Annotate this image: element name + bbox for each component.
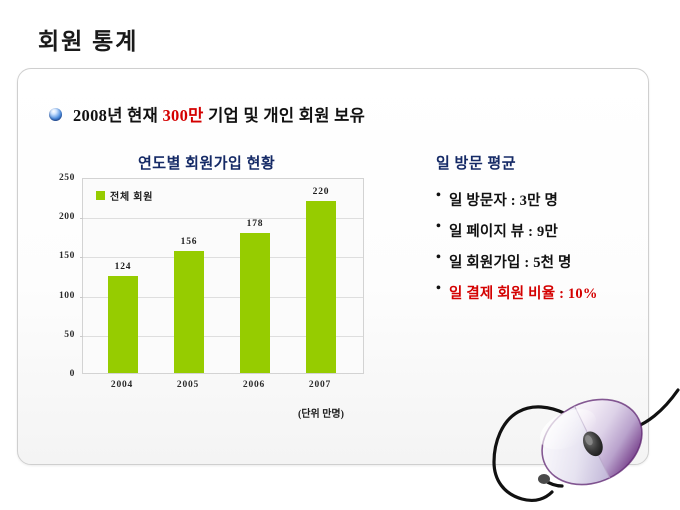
blue-sphere-icon [49,108,62,121]
bar-column: 220 [293,179,349,373]
headline-text-before: 2008년 현재 [73,106,163,125]
bar-value-label: 124 [95,262,151,272]
right-panel-list: 일 방문자 : 3만 명 일 페이지 뷰 : 9만 일 회원가입 : 5천 명 … [436,189,649,303]
y-tick-label: 150 [59,251,75,261]
bar-value-label: 220 [293,187,349,197]
axis-tick [80,297,83,298]
bar-value-label: 156 [161,237,217,247]
page-title: 회원 통계 [38,22,138,56]
x-tick-label: 2007 [292,380,348,390]
list-item: 일 결제 회원 비율 : 10% [436,282,649,303]
chart-block: 연도별 회원가입 현황 250 200 150 100 50 0 [28,152,413,452]
axis-tick [80,257,83,258]
list-item: 일 회원가입 : 5천 명 [436,251,649,272]
y-tick-label: 0 [70,369,75,379]
headline-text-after: 기업 및 개인 회원 보유 [204,106,365,125]
x-tick-label: 2004 [94,380,150,390]
x-tick-label: 2005 [160,380,216,390]
list-item: 일 페이지 뷰 : 9만 [436,220,649,241]
chart-plot-area: 전체 회원 124 156 178 220 [82,178,364,374]
y-tick-label: 200 [59,212,75,222]
y-axis: 250 200 150 100 50 0 [46,178,79,374]
headline-highlight: 300만 [163,106,204,125]
bar-column: 124 [95,179,151,373]
bar [240,233,270,373]
y-tick-label: 250 [59,173,75,183]
x-tick-label: 2006 [226,380,282,390]
bar [108,276,138,373]
chart-plot-wrapper: 250 200 150 100 50 0 전체 회 [46,178,401,413]
axis-tick [80,218,83,219]
headline-row: 2008년 현재 300만 기업 및 개인 회원 보유 [49,102,365,126]
y-tick-label: 50 [64,330,75,340]
chart-title: 연도별 회원가입 현황 [138,152,275,173]
headline-text: 2008년 현재 300만 기업 및 개인 회원 보유 [73,102,365,126]
axis-tick [80,336,83,337]
bar [174,251,204,373]
chart-unit-note: (단위 만명) [298,405,344,420]
right-panel: 일 방문 평균 일 방문자 : 3만 명 일 페이지 뷰 : 9만 일 회원가입… [436,152,649,313]
right-panel-heading: 일 방문 평균 [436,152,649,173]
bar-column: 156 [161,179,217,373]
y-tick-label: 100 [59,291,75,301]
bar-column: 178 [227,179,283,373]
bar [306,201,336,373]
bar-value-label: 178 [227,219,283,229]
list-item: 일 방문자 : 3만 명 [436,189,649,210]
content-card: 2008년 현재 300만 기업 및 개인 회원 보유 연도별 회원가입 현황 … [17,68,649,465]
